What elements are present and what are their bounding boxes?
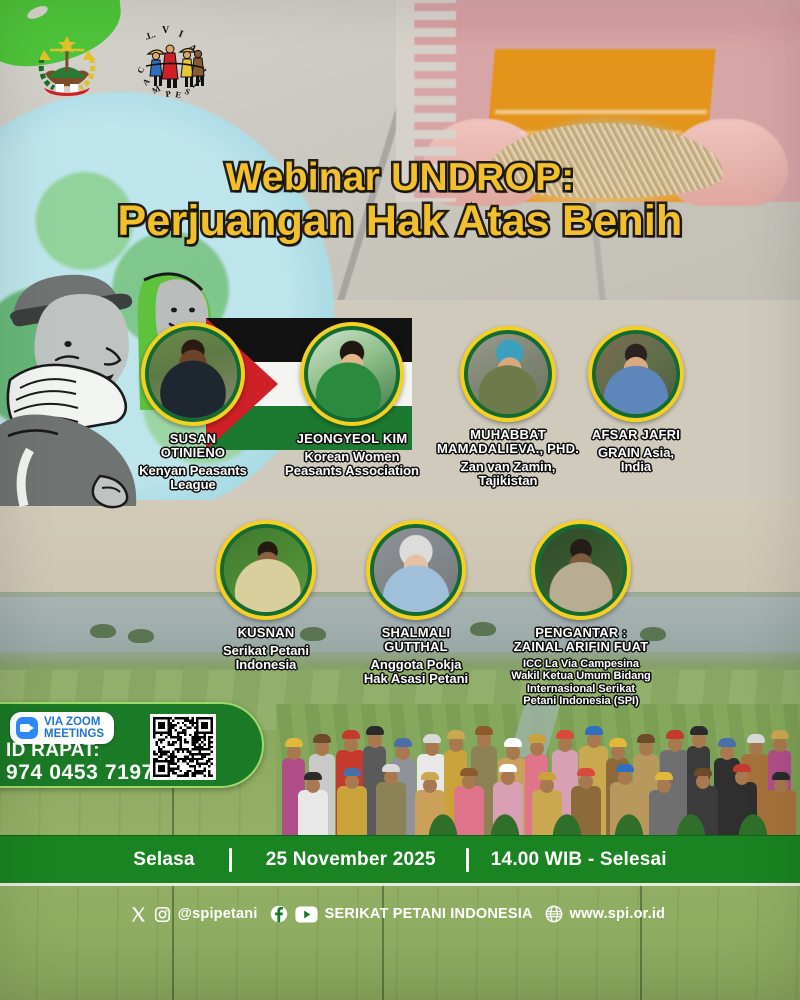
organization-name: SERIKAT PETANI INDONESIA	[325, 906, 533, 922]
group-member-head	[657, 778, 671, 793]
group-member-head	[774, 778, 788, 793]
speaker-susan-otinieno: SUSANOTINIENO Kenyan PeasantsLeague	[128, 322, 258, 493]
traditional-headwear	[747, 734, 765, 743]
group-member-head	[306, 778, 320, 793]
group-member-head	[692, 733, 706, 748]
group-member-head	[696, 774, 710, 789]
svg-text:I: I	[177, 29, 185, 41]
group-member-head	[315, 741, 329, 756]
moderator-org: ICC La Via Campesina Wakil Ketua Umum Bi…	[486, 658, 676, 707]
speaker-name: KUSNAN	[196, 626, 336, 640]
facebook-icon[interactable]	[270, 905, 288, 923]
title-line-1: Webinar UNDROP:	[0, 158, 800, 199]
title-line-2: Perjuangan Hak Atas Benih	[0, 199, 800, 244]
group-member-head	[618, 770, 632, 785]
zoom-meeting-panel: VIA ZOOMMEETINGS ID RAPAT: 974 0453 7197	[0, 702, 264, 788]
youtube-icon[interactable]	[295, 906, 318, 923]
website-url: www.spi.or.id	[570, 906, 666, 922]
traditional-headwear	[366, 726, 384, 735]
group-member-head	[530, 741, 544, 756]
group-member-head	[449, 737, 463, 752]
avatar-photo	[304, 326, 400, 422]
group-photo	[276, 704, 800, 836]
traditional-headwear	[556, 730, 574, 739]
group-member-head	[773, 737, 787, 752]
foreground-plant	[736, 810, 770, 836]
schedule-date: 25 November 2025	[266, 849, 436, 871]
avatar-photo	[220, 524, 312, 616]
group-member-front	[337, 786, 367, 836]
group-member-head	[501, 770, 515, 785]
group-member-head	[579, 774, 593, 789]
group-member-front	[298, 790, 328, 836]
group-member-head	[345, 774, 359, 789]
traditional-headwear	[304, 772, 322, 780]
svg-text:V: V	[162, 25, 170, 36]
avatar-photo	[145, 326, 241, 422]
traditional-headwear	[585, 726, 603, 735]
traditional-headwear	[342, 730, 360, 739]
avatar-photo	[592, 330, 680, 418]
moderator-name: PENGANTAR :ZAINAL ARIFIN FUAT	[486, 626, 676, 654]
zoom-badge-label: VIA ZOOMMEETINGS	[44, 716, 104, 740]
foreground-plant	[426, 810, 460, 836]
avatar	[460, 326, 556, 422]
schedule-day: Selasa	[133, 849, 194, 871]
speaker-name: SHALMALIGUTTHAL	[346, 626, 486, 654]
meeting-id-label: ID RAPAT:	[6, 740, 100, 762]
traditional-headwear	[733, 764, 751, 772]
globe-icon[interactable]	[545, 905, 563, 923]
instagram-icon[interactable]	[154, 906, 171, 923]
group-member-head	[668, 737, 682, 752]
group-member-head	[720, 745, 734, 760]
traditional-headwear	[690, 726, 708, 735]
foreground-plant	[612, 810, 646, 836]
avatar-photo	[370, 524, 462, 616]
speaker-shalmali-gutthal: SHALMALIGUTTHAL Anggota PokjaHak Asasi P…	[346, 520, 486, 687]
speaker-jeongyeol-kim: JEONGYEOL KIM Korean WomenPeasants Assoc…	[272, 322, 432, 479]
avatar	[588, 326, 684, 422]
group-member-head	[477, 733, 491, 748]
speaker-kusnan: KUSNAN Serikat PetaniIndonesia	[196, 520, 336, 673]
footer-divider	[0, 883, 800, 886]
traditional-headwear	[460, 768, 478, 776]
traditional-headwear	[637, 734, 655, 743]
schedule-separator	[229, 848, 232, 872]
group-member-front	[376, 782, 406, 836]
meeting-id-number: 974 0453 7197	[6, 761, 154, 785]
tree	[90, 624, 116, 638]
speaker-name: JEONGYEOL KIM	[272, 432, 432, 446]
traditional-headwear	[694, 768, 712, 776]
speaker-zainal-arifin-fuat: PENGANTAR :ZAINAL ARIFIN FUAT ICC La Via…	[486, 520, 676, 707]
group-member-head	[587, 733, 601, 748]
group-member-head	[749, 741, 763, 756]
group-member-head	[462, 774, 476, 789]
traditional-headwear	[577, 768, 595, 776]
traditional-headwear	[394, 738, 412, 747]
avatar-photo	[464, 330, 552, 418]
svg-text:E: E	[175, 89, 183, 98]
group-member-head	[384, 770, 398, 785]
logo-row: .L. V I A C A M P E S I N A	[30, 24, 210, 98]
traditional-headwear	[538, 772, 556, 780]
schedule-separator	[466, 848, 469, 872]
group-member-head	[558, 737, 572, 752]
group-member-head	[396, 745, 410, 760]
traditional-headwear	[771, 730, 789, 739]
speaker-org: GRAIN Asia,India	[566, 446, 706, 475]
group-member-head	[344, 737, 358, 752]
la-via-campesina-logo: .L. V I A C A M P E S I N A	[130, 24, 210, 98]
tree	[128, 629, 154, 643]
traditional-headwear	[504, 738, 522, 747]
speaker-name: SUSANOTINIENO	[128, 432, 258, 460]
group-member-head	[425, 741, 439, 756]
traditional-headwear	[475, 726, 493, 735]
svg-text:.L.: .L.	[144, 29, 157, 42]
group-member-head	[423, 778, 437, 793]
schedule-time: 14.00 WIB - Selesai	[491, 849, 667, 871]
schedule-bar: Selasa 25 November 2025 14.00 WIB - Sele…	[0, 835, 800, 883]
speaker-org: Anggota PokjaHak Asasi Petani	[346, 658, 486, 687]
foreground-plant	[674, 810, 708, 836]
x-icon[interactable]	[130, 906, 147, 923]
traditional-headwear	[499, 764, 517, 772]
footer: @spipetani SERIKAT PETANI INDONESIA www.…	[0, 883, 800, 1000]
speaker-org: Serikat PetaniIndonesia	[196, 644, 336, 673]
group-member-head	[639, 741, 653, 756]
qr-code[interactable]	[150, 714, 216, 780]
avatar-photo	[535, 524, 627, 616]
traditional-headwear	[655, 772, 673, 780]
traditional-headwear	[666, 730, 684, 739]
traditional-headwear	[423, 734, 441, 743]
group-member-head	[506, 745, 520, 760]
traditional-headwear	[447, 730, 465, 739]
group-member-head	[735, 770, 749, 785]
traditional-headwear	[382, 764, 400, 772]
webinar-poster: .L. V I A C A M P E S I N A	[0, 0, 800, 1000]
avatar	[141, 322, 245, 426]
group-member-head	[611, 745, 625, 760]
foreground-plant	[550, 810, 584, 836]
traditional-headwear	[528, 734, 546, 743]
speaker-name: AFSAR JAFRI	[566, 428, 706, 442]
traditional-headwear	[772, 772, 790, 780]
spi-logo	[30, 24, 104, 98]
avatar	[531, 520, 631, 620]
group-member-front	[766, 790, 796, 836]
group-member-head	[368, 733, 382, 748]
avatar	[300, 322, 404, 426]
speaker-org: Korean WomenPeasants Association	[272, 450, 432, 479]
speaker-org: Kenyan PeasantsLeague	[128, 464, 258, 493]
traditional-headwear	[285, 738, 303, 747]
traditional-headwear	[313, 734, 331, 743]
traditional-headwear	[616, 764, 634, 772]
foreground-plant	[488, 810, 522, 836]
traditional-headwear	[343, 768, 361, 776]
group-member-head	[287, 745, 301, 760]
page-title: Webinar UNDROP: Perjuangan Hak Atas Beni…	[0, 158, 800, 243]
shirt-text-band	[495, 110, 706, 114]
speaker-afsar-jafri: AFSAR JAFRI GRAIN Asia,India	[566, 326, 706, 475]
avatar	[216, 520, 316, 620]
avatar	[366, 520, 466, 620]
traditional-headwear	[718, 738, 736, 747]
video-camera-icon	[16, 717, 38, 739]
svg-text:P: P	[165, 88, 172, 98]
svg-text:C: C	[135, 65, 147, 75]
group-member-head	[540, 778, 554, 793]
traditional-headwear	[609, 738, 627, 747]
social-handle: @spipetani	[178, 906, 258, 922]
social-media-row: @spipetani SERIKAT PETANI INDONESIA www.…	[0, 905, 800, 923]
svg-text:A: A	[140, 75, 152, 87]
traditional-headwear	[421, 772, 439, 780]
